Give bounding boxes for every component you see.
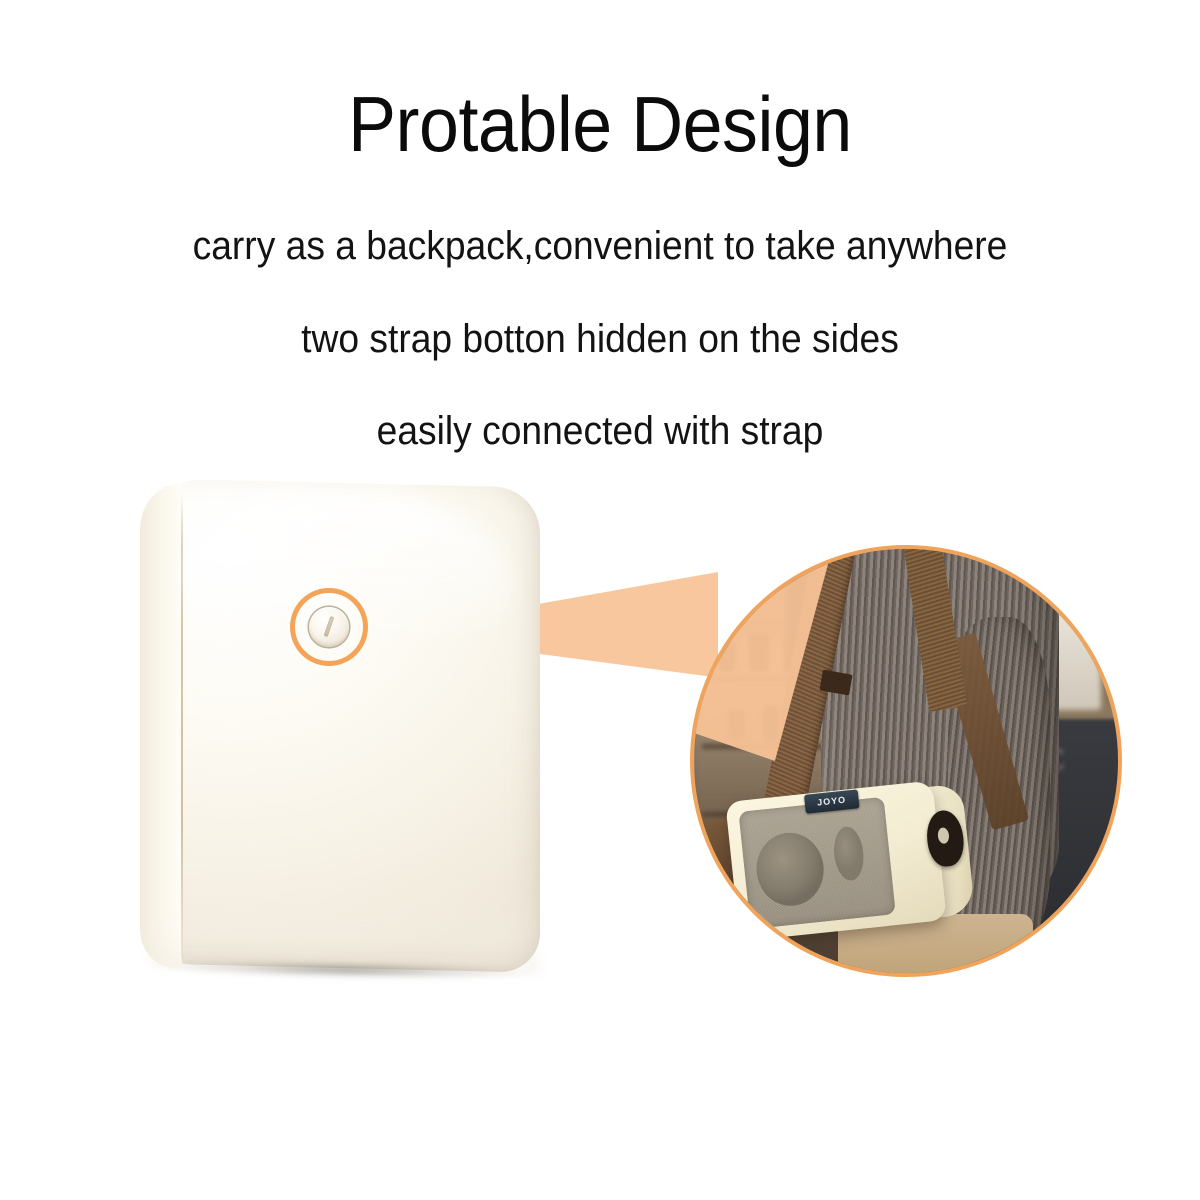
strap-button-callout <box>290 588 376 674</box>
strap-button-icon <box>309 607 349 647</box>
product-feature-image: Protable Design carry as a backpack,conv… <box>0 0 1200 1200</box>
lifestyle-photo-circle: SPEC ~~~~~~ ~~~~~ ~~~~~~ ~~~~ JOYO <box>690 545 1122 977</box>
carried-speaker: JOYO <box>725 780 946 941</box>
strap-button-slot-icon <box>324 616 335 637</box>
speaker-grille <box>739 797 896 929</box>
speaker-tweeter <box>831 825 866 882</box>
page-title: Protable Design <box>48 78 1152 170</box>
speaker-woofer <box>753 829 827 908</box>
feature-line-1: carry as a backpack,convenient to take a… <box>42 222 1158 270</box>
product-image-speaker-side <box>120 465 590 1065</box>
feature-line-3: easily connected with strap <box>42 407 1158 455</box>
feature-line-2: two strap botton hidden on the sides <box>42 315 1158 363</box>
brand-badge-label: JOYO <box>817 795 847 807</box>
speaker-floor-reflection <box>150 876 540 973</box>
